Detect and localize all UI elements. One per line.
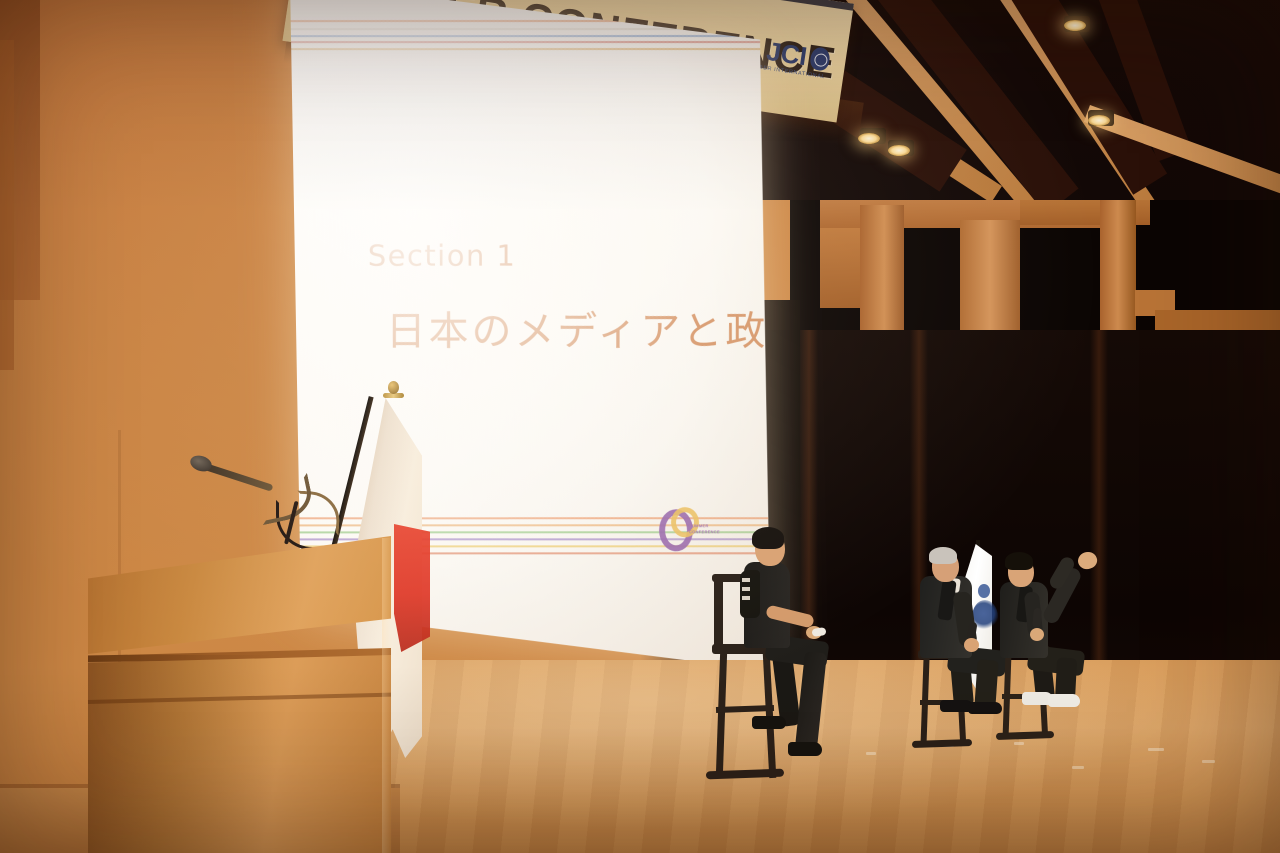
sneaker [1048, 694, 1080, 707]
stage-light [1088, 115, 1110, 126]
slide-title: 日本のメディアと政治 [386, 299, 771, 357]
summer-conference-logo: SUMMER CONFERENCE [657, 509, 719, 545]
hair [929, 547, 957, 564]
podium-edge-highlight [382, 538, 392, 853]
slide-section-label: Section 1 [368, 239, 517, 273]
jci-flag-emblem-top [978, 584, 990, 598]
shoe [752, 716, 786, 729]
logo-text-line2: CONFERENCE [689, 529, 720, 535]
stage-photo: SUMMER CONFERENCE 2017 JCI JUNIOR CHAMBE… [0, 0, 1280, 853]
wall-left-panel [0, 40, 14, 370]
floor-sheen [380, 660, 1280, 853]
shoe [788, 742, 822, 756]
stage-light [858, 133, 880, 144]
stripe [290, 41, 771, 43]
floor-mark [1014, 742, 1024, 745]
podium-shadow [88, 655, 274, 853]
floor-mark [866, 752, 876, 755]
flag-finial [388, 381, 399, 394]
stripe [290, 48, 771, 50]
hair [1005, 552, 1033, 570]
sleeve-print [742, 578, 750, 604]
stage-light [888, 145, 910, 156]
stool-back [714, 576, 723, 648]
floor-mark [1072, 766, 1084, 769]
shoe [968, 702, 1002, 714]
slide-content: JCI JUNIOR CHAMBER INTERNATIONAL Section… [290, 0, 759, 612]
globe-icon [809, 46, 831, 72]
floor-mark [1202, 760, 1215, 763]
stripe [290, 35, 771, 37]
hair [752, 527, 784, 549]
hand [1030, 628, 1044, 641]
floor-mark [1148, 748, 1164, 751]
stage-light [1064, 20, 1086, 31]
hand [964, 638, 979, 652]
